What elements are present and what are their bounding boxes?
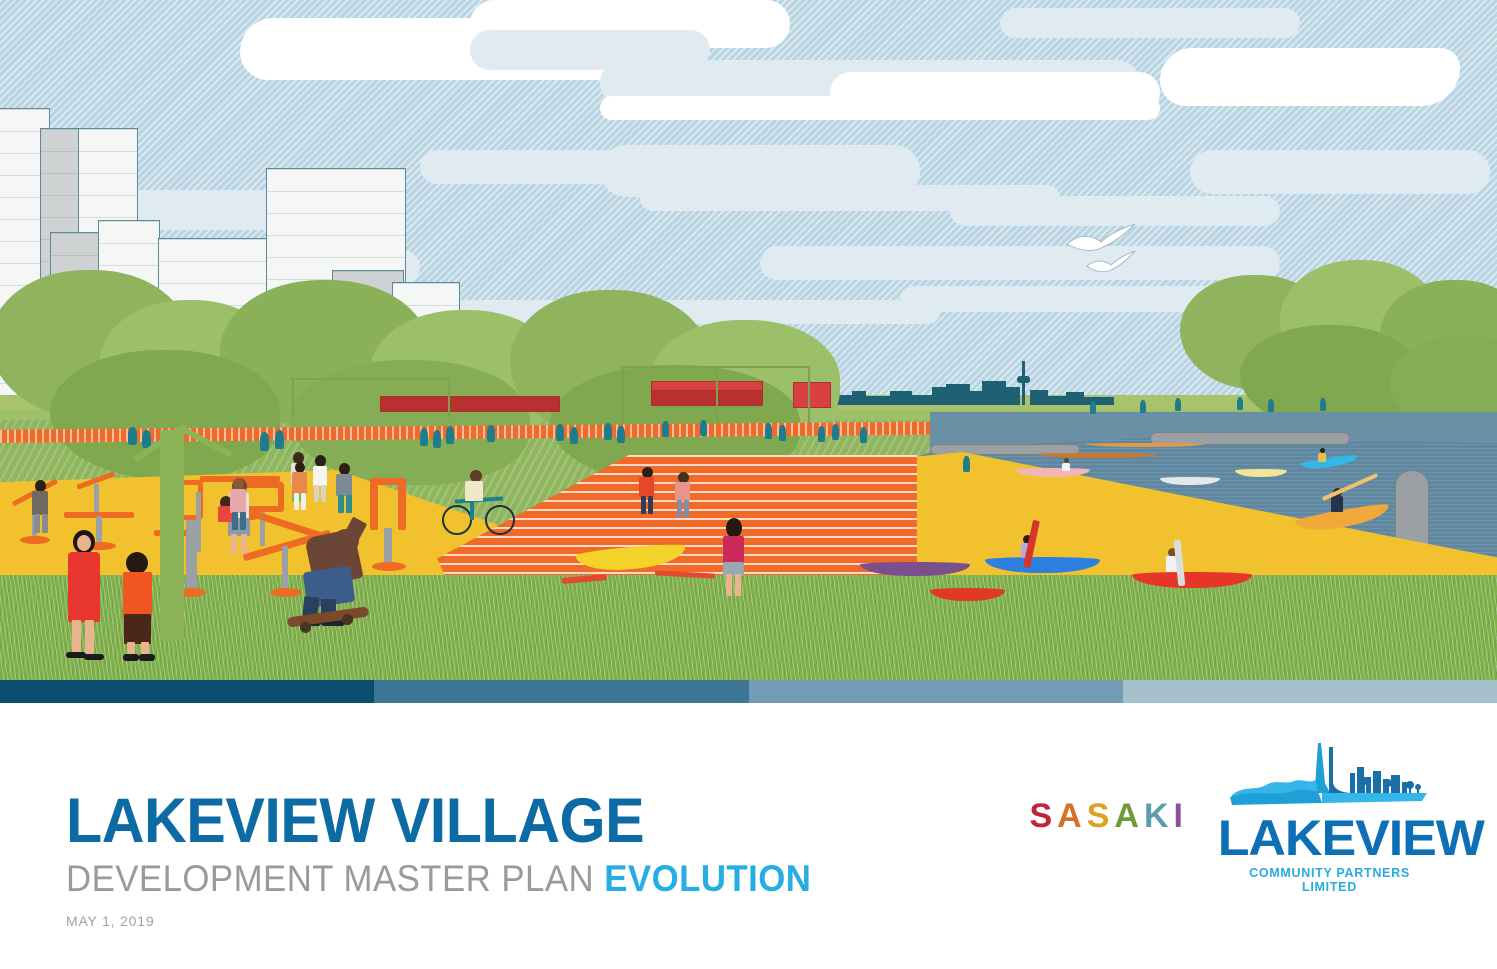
person-silhouette xyxy=(765,423,772,439)
person-silhouette xyxy=(1140,400,1146,413)
person-silhouette xyxy=(260,432,269,451)
cloud xyxy=(1160,48,1460,106)
person-silhouette xyxy=(556,424,564,441)
person-silhouette xyxy=(487,425,495,442)
seagull-icon xyxy=(1085,250,1137,283)
person-silhouette xyxy=(433,430,441,448)
cyclist xyxy=(462,470,488,506)
trellis-post xyxy=(808,366,810,428)
skyline-block xyxy=(1080,397,1114,405)
person-silhouette xyxy=(963,456,970,472)
person-silhouette xyxy=(617,426,625,443)
person-on-deck xyxy=(673,472,693,520)
person-foreground xyxy=(60,530,108,660)
person-silhouette xyxy=(1175,398,1181,411)
person-silhouette xyxy=(1268,399,1274,412)
trellis-post xyxy=(622,366,624,428)
person xyxy=(228,478,250,532)
subtitle-text: DEVELOPMENT MASTER PLAN xyxy=(66,858,604,899)
sasaki-letter: S xyxy=(1029,799,1057,833)
pavilion-building xyxy=(651,390,763,406)
colorbar-segment-1 xyxy=(0,680,374,703)
lakeview-waterfront-mark xyxy=(1222,741,1437,813)
sasaki-letter: A xyxy=(1057,799,1087,833)
cloud xyxy=(600,96,1160,120)
person-silhouette xyxy=(779,425,786,441)
person-silhouette xyxy=(818,426,825,442)
cover-rendering xyxy=(0,0,1497,680)
sasaki-letter: K xyxy=(1144,799,1174,833)
trellis-post xyxy=(292,378,294,418)
person xyxy=(30,480,52,535)
cn-tower-pod xyxy=(1017,376,1030,383)
lakeview-wordmark: LAKEVIEW xyxy=(1218,813,1442,863)
person-silhouette xyxy=(128,427,137,445)
person xyxy=(310,455,330,505)
kayaker xyxy=(1318,448,1327,462)
color-bar xyxy=(0,680,1497,703)
bicycle-wheel xyxy=(485,505,515,535)
person-silhouette xyxy=(1320,398,1326,411)
document-date: MAY 1, 2019 xyxy=(66,913,859,929)
person xyxy=(334,463,356,515)
person-silhouette xyxy=(604,423,612,440)
person-silhouette xyxy=(832,424,839,440)
cloud xyxy=(470,30,710,70)
colorbar-segment-4 xyxy=(1123,680,1497,703)
sasaki-letter: S xyxy=(1087,799,1115,833)
lakeview-logo: LAKEVIEW COMMUNITY PARTNERS LIMITED xyxy=(1222,741,1437,894)
shade-trellis xyxy=(290,378,450,380)
skyline-block xyxy=(890,391,912,405)
person-silhouette xyxy=(446,426,454,444)
tree-trunk xyxy=(160,430,184,640)
person-silhouette xyxy=(420,428,428,446)
skateboard-wheel xyxy=(300,622,311,633)
cloud xyxy=(1000,8,1300,38)
sasaki-letter: I xyxy=(1174,799,1188,833)
person xyxy=(290,462,310,512)
page-title: LAKEVIEW VILLAGE xyxy=(66,790,811,853)
person-silhouette xyxy=(1090,401,1096,414)
title-block: LAKEVIEW VILLAGE DEVELOPMENT MASTER PLAN… xyxy=(66,790,859,929)
colorbar-segment-2 xyxy=(374,680,748,703)
subtitle-accent: EVOLUTION xyxy=(604,858,811,899)
trellis-post xyxy=(448,378,450,418)
shade-trellis xyxy=(620,366,810,368)
person-silhouette xyxy=(570,427,578,444)
person-silhouette xyxy=(662,421,669,437)
logo-group: SASAKI xyxy=(1029,741,1437,894)
pavilion-building xyxy=(380,396,560,412)
bicycle-wheel xyxy=(442,505,472,535)
cloud xyxy=(1190,150,1490,194)
lakeview-tagline: COMMUNITY PARTNERS LIMITED xyxy=(1222,866,1437,894)
colorbar-segment-3 xyxy=(749,680,1123,703)
kayaker xyxy=(1062,458,1071,471)
sasaki-letter: A xyxy=(1114,799,1144,833)
person-silhouette xyxy=(860,427,867,443)
person-on-deck xyxy=(718,518,748,600)
person-foreground xyxy=(118,552,158,662)
person-on-deck xyxy=(637,467,657,517)
person-silhouette xyxy=(275,430,284,449)
person-silhouette xyxy=(1237,397,1243,410)
page-subtitle: DEVELOPMENT MASTER PLAN EVOLUTION xyxy=(66,860,811,897)
tree-canopy-left xyxy=(0,250,890,490)
foreground-lawn xyxy=(0,575,1497,680)
pavilion-building xyxy=(793,382,831,408)
skyline-block xyxy=(1002,387,1020,405)
sasaki-logo: SASAKI xyxy=(1029,799,1188,833)
trellis-post xyxy=(716,366,718,428)
person-silhouette xyxy=(700,420,707,436)
footer: LAKEVIEW VILLAGE DEVELOPMENT MASTER PLAN… xyxy=(0,703,1497,969)
skateboard-wheel xyxy=(342,614,353,625)
cn-tower-mast xyxy=(1022,361,1025,405)
